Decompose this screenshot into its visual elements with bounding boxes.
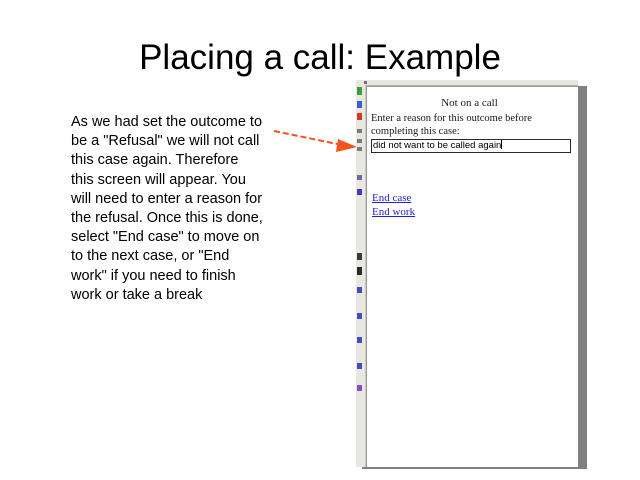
panel-instruction-text: Enter a reason for this outcome before c… bbox=[371, 112, 577, 138]
page-title: Placing a call: Example bbox=[0, 38, 640, 78]
panel-content-area: Not on a call Enter a reason for this ou… bbox=[366, 86, 578, 467]
strip-fragment-blue bbox=[357, 101, 362, 108]
strip-fragment-gray-3 bbox=[357, 147, 362, 151]
panel-heading: Not on a call bbox=[367, 97, 572, 109]
panel-link-list: End case End work bbox=[372, 191, 415, 219]
slide-body-text: As we had set the outcome to be a "Refus… bbox=[71, 113, 263, 305]
reason-input-value: did not want to be called again bbox=[373, 140, 501, 151]
panel-drop-shadow-right bbox=[578, 86, 587, 467]
strip-fragment-green bbox=[357, 87, 362, 95]
reason-input[interactable]: did not want to be called again bbox=[371, 139, 571, 153]
scrollbar-thumb[interactable] bbox=[364, 81, 367, 84]
text-cursor bbox=[501, 140, 502, 149]
strip-fragment-dark-1 bbox=[357, 253, 362, 260]
embedded-screenshot: Not on a call Enter a reason for this ou… bbox=[356, 80, 578, 467]
strip-fragment-link-2 bbox=[357, 287, 362, 293]
strip-fragment-link-6 bbox=[357, 385, 362, 391]
end-work-link[interactable]: End work bbox=[372, 205, 415, 219]
end-case-link[interactable]: End case bbox=[372, 191, 415, 205]
strip-fragment-dark-2 bbox=[357, 267, 362, 275]
strip-fragment-gray-1 bbox=[357, 129, 362, 133]
strip-fragment-gray-4 bbox=[357, 175, 362, 180]
strip-fragment-link-1 bbox=[357, 189, 362, 195]
strip-fragment-gray-2 bbox=[357, 139, 362, 143]
annotation-arrow-icon bbox=[272, 122, 362, 154]
clipped-left-strip bbox=[356, 85, 366, 467]
strip-fragment-link-3 bbox=[357, 313, 362, 319]
strip-fragment-link-5 bbox=[357, 363, 362, 369]
strip-fragment-red bbox=[357, 113, 362, 120]
strip-fragment-link-4 bbox=[357, 337, 362, 343]
